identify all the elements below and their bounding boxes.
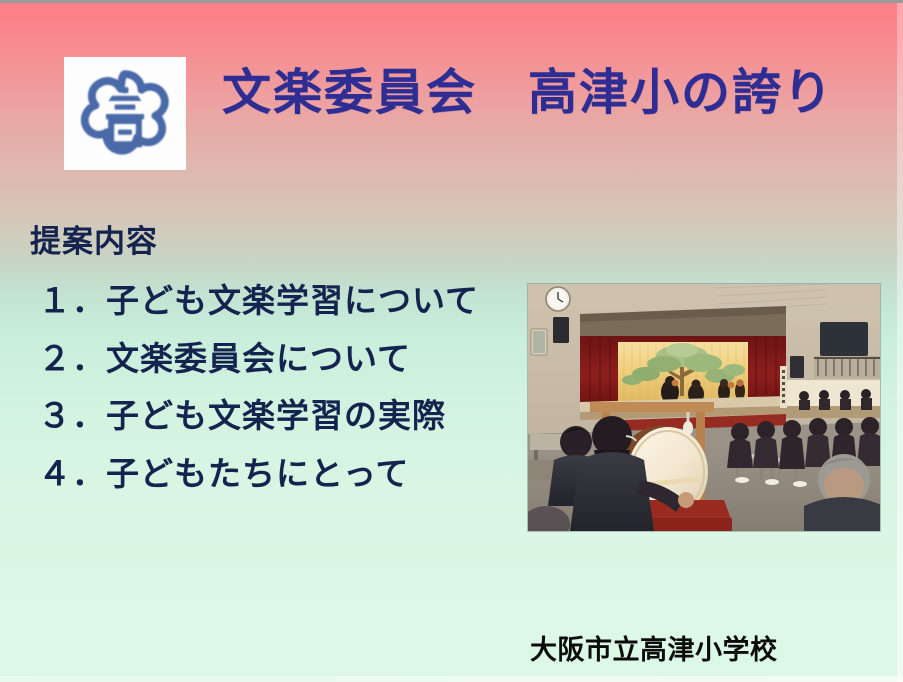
performance-photo-image — [528, 284, 880, 531]
slide-header: 文楽委員会 高津小の誇り — [0, 49, 903, 174]
agenda-panel: 提案内容 １．子ども文楽学習について ２．文楽委員会について ３．子ども文楽学習… — [0, 227, 520, 515]
agenda-item-1: １．子ども文楽学習について — [38, 284, 520, 319]
performance-photo — [528, 284, 880, 531]
agenda-item-4: ４．子どもたちにとって — [38, 457, 520, 492]
presentation-slide: 文楽委員会 高津小の誇り 提案内容 １．子ども文楽学習について ２．文楽委員会に… — [0, 0, 903, 682]
agenda-list: １．子ども文楽学習について ２．文楽委員会について ３．子ども文楽学習の実際 ４… — [0, 284, 520, 492]
section-heading: 提案内容 — [30, 227, 520, 258]
presenter-credit: 大阪市立高津小学校 ＰＴＡ前会長 吉田 宏興 — [530, 562, 842, 682]
auditorium-bunraku-illustration — [528, 284, 880, 531]
credit-school-name: 大阪市立高津小学校 — [530, 633, 842, 669]
school-crest-logo — [64, 57, 186, 170]
cherry-blossom-crest-icon — [73, 62, 177, 166]
agenda-item-2: ２．文楽委員会について — [38, 342, 520, 377]
agenda-item-3: ３．子ども文楽学習の実際 — [38, 399, 520, 434]
page-title: 文楽委員会 高津小の誇り — [222, 65, 834, 121]
